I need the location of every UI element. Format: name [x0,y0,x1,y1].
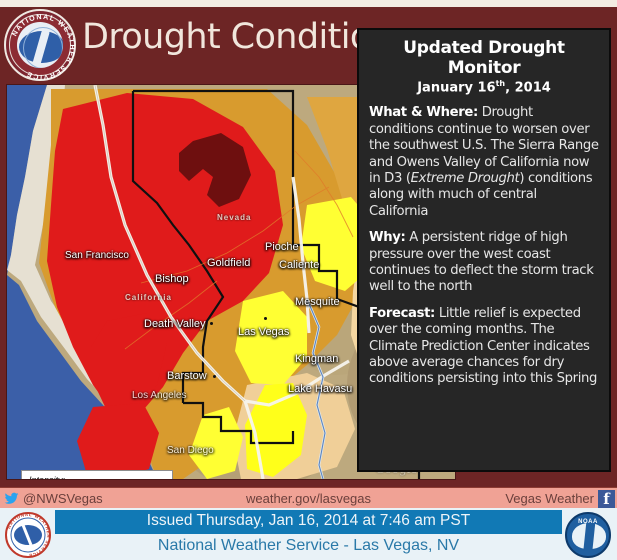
city-label-pioche: Pioche [265,241,299,253]
national-weather-service-logo-small-icon: NATIONAL WEATHER SERVICE [4,512,52,558]
city-label-lake-havasu: Lake Havasu [288,383,352,395]
panel-label-why: Why: [369,230,405,245]
svg-text:NATIONAL WEATHER SERVICE: NATIONAL WEATHER SERVICE [10,12,77,82]
panel-date-main: January 16 [417,80,495,95]
noaa-label: NOAA [567,519,609,525]
city-label-goldfield: Goldfield [207,257,250,269]
city-label-san-diego: San Diego [167,445,214,456]
panel-date-year: , 2014 [505,80,551,95]
state-label: Nevada [217,213,251,222]
state-label: California [125,293,172,302]
facebook-page-name[interactable]: Vegas Weather [505,491,594,506]
issued-banner: Issued Thursday, Jan 16, 2014 at 7:46 am… [55,510,562,534]
city-label-san-francisco: San Francisco [65,250,129,261]
drought-monitor-text-panel: Updated Drought Monitor January 16th, 20… [357,28,611,472]
noaa-logo-icon: NOAA [565,512,611,558]
panel-text-what-where-italic: Extreme Drought [411,171,520,186]
panel-section-why: Why: A persistent ridge of high pressure… [369,230,599,296]
city-dot-death-valley [210,322,213,325]
city-label-las-vegas: Las Vegas [238,326,289,338]
panel-section-forecast: Forecast: Little relief is expected over… [369,306,599,388]
header-top-strip [0,0,617,7]
panel-title: Updated Drought Monitor [369,38,599,78]
city-dot-las-vegas [264,317,267,320]
panel-label-forecast: Forecast: [369,306,435,321]
city-label-mesquite: Mesquite [295,296,340,308]
city-label-barstow: Barstow [167,370,207,382]
drought-conditions-graphic: NATIONAL WEATHER SERVICE Drought Conditi… [0,0,617,560]
panel-date: January 16th, 2014 [369,79,599,95]
city-label-bishop: Bishop [155,273,189,285]
panel-label-what-where: What & Where: [369,105,478,120]
issued-text: Issued Thursday, Jan 16, 2014 at 7:46 am… [55,512,562,530]
office-text: National Weather Service - Las Vegas, NV [55,537,562,555]
city-label-kingman: Kingman [295,353,338,365]
footer-bar: NATIONAL WEATHER SERVICE Issued Thursday… [0,508,617,560]
drought-intensity-legend: Intensity: D0 Abnormally Dry D1 Drought … [21,470,173,480]
social-media-bar: @NWSVegas weather.gov/lasvegas Vegas Wea… [0,487,617,508]
city-label-caliente: Caliente [279,259,319,271]
legend-title: Intensity: [29,475,167,480]
city-dot-barstow [213,375,216,378]
national-weather-service-logo-icon: NATIONAL WEATHER SERVICE [4,9,76,81]
panel-section-what-where: What & Where: Drought conditions continu… [369,105,599,220]
city-label-los-angeles: Los Angeles [132,390,187,401]
facebook-f-icon[interactable]: f [598,490,615,508]
panel-date-ordinal: th [496,79,506,88]
city-label-death-valley: Death Valley [144,318,206,330]
